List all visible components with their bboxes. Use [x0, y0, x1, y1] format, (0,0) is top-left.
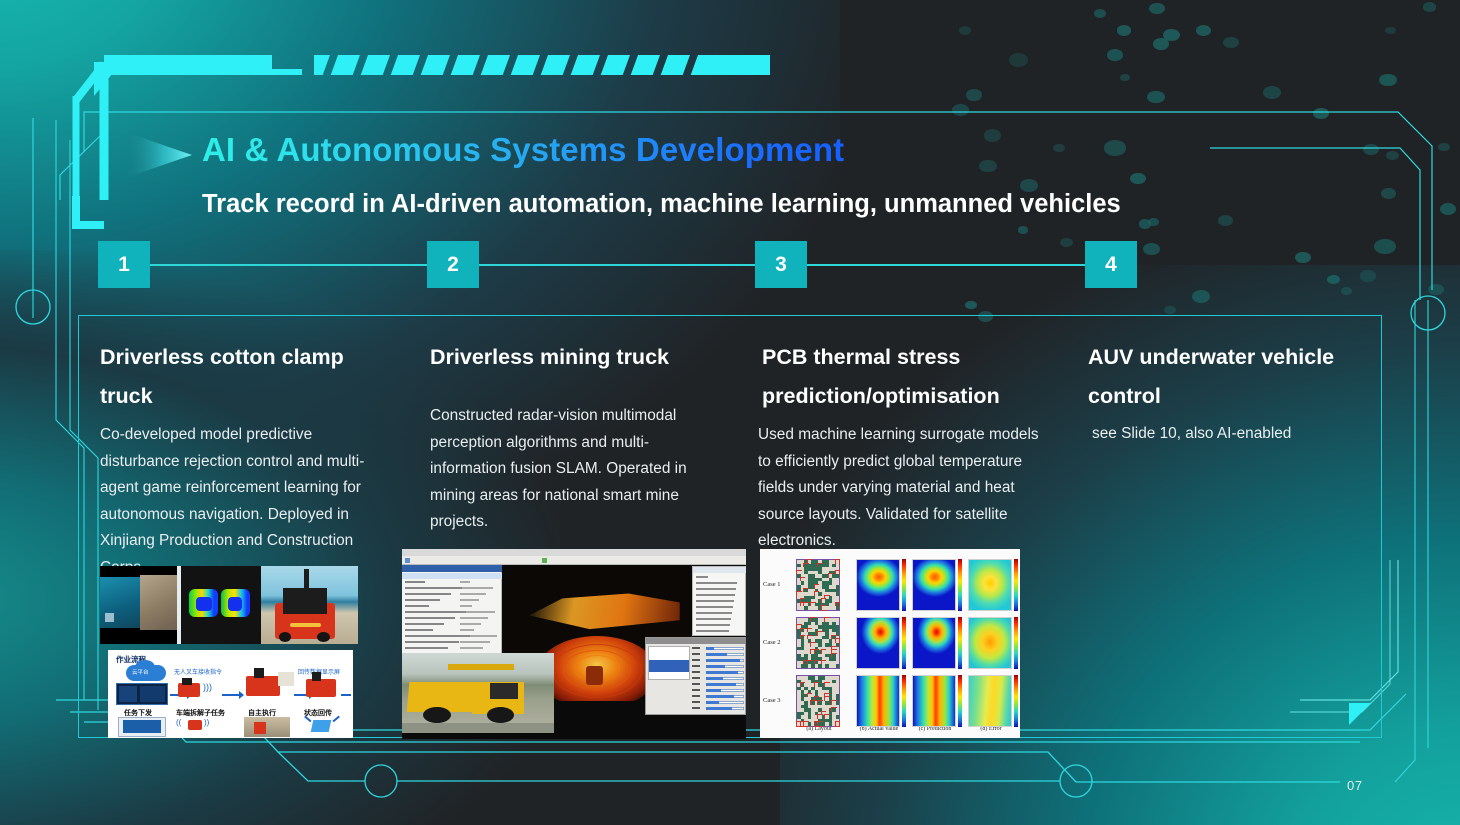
step-connector-line	[124, 264, 1137, 266]
column-4-body: see Slide 10, also AI-enabled	[1088, 421, 1358, 448]
thermal-row-label: Case 1	[763, 581, 781, 588]
workflow-step-2-label: 车端拆解子任务	[176, 708, 225, 718]
cloud-label: 云平台	[132, 668, 149, 676]
thermal-prediction-field	[912, 559, 956, 611]
thermal-colorbar	[958, 675, 962, 727]
thermal-error-field	[968, 617, 1012, 669]
depth-colormap-point-cloud	[181, 566, 261, 644]
thermal-prediction-field	[912, 617, 956, 669]
lidar-slam-software-screenshot	[402, 549, 746, 739]
red-clamp-truck-photo	[261, 566, 358, 644]
page-subtitle: Track record in AI-driven automation, ma…	[202, 190, 1121, 219]
thermal-colorbar	[1014, 617, 1018, 669]
thermal-error-field	[968, 559, 1012, 611]
cotton-truck-photo-strip	[100, 566, 358, 644]
step-marker-3[interactable]: 3	[755, 241, 807, 288]
workflow-label-a: 无人叉车接收指令	[174, 667, 222, 676]
thermal-actual-field	[856, 559, 900, 611]
page-corner-triangle-icon	[1349, 703, 1371, 725]
thermal-prediction-field	[912, 675, 956, 727]
workflow-step-4-label: 状态回传	[304, 708, 332, 718]
column-4-heading: AUV underwater vehicle control	[1088, 338, 1358, 416]
thermal-error-field	[968, 675, 1012, 727]
mining-truck-photo	[402, 653, 554, 733]
step-marker-2[interactable]: 2	[427, 241, 479, 288]
column-1-body: Co-developed model predictive disturbanc…	[100, 422, 380, 582]
thermal-layout-cell	[796, 559, 840, 611]
page-title: AI & Autonomous Systems Development	[202, 131, 844, 169]
column-2-heading: Driverless mining truck	[430, 338, 715, 377]
camera-view-cotton-bales	[100, 566, 177, 644]
column-2: Driverless mining truck Constructed rada…	[430, 338, 715, 536]
step-indicator-bar: 1 2 3 4	[98, 241, 1163, 288]
page-number: 07	[1347, 778, 1363, 793]
step-marker-1[interactable]: 1	[98, 241, 150, 288]
thermal-actual-field	[856, 675, 900, 727]
column-3: PCB thermal stress prediction/optimisati…	[758, 338, 1043, 555]
thermal-layout-cell	[796, 675, 840, 727]
column-2-body: Constructed radar-vision multimodal perc…	[430, 403, 715, 536]
column-3-body: Used machine learning surrogate models t…	[758, 422, 1043, 555]
thermal-colorbar	[902, 617, 906, 669]
column-4: AUV underwater vehicle control see Slide…	[1088, 338, 1358, 448]
thermal-row-label: Case 2	[763, 639, 781, 646]
play-triangle-icon	[122, 127, 210, 183]
thermal-colorbar	[958, 559, 962, 611]
step-marker-4[interactable]: 4	[1085, 241, 1137, 288]
thermal-colorbar	[958, 617, 962, 669]
slide-root: AI & Autonomous Systems Development Trac…	[0, 0, 1460, 825]
thermal-layout-cell	[796, 617, 840, 669]
workflow-diagram: 作业流程 云平台 任务下发 无人叉车接收指令 ))) 车端拆解子任务 (( ))…	[108, 650, 353, 738]
thermal-colorbar	[1014, 559, 1018, 611]
thermal-field-grid-figure: Case 1Case 2Case 3(a) Layout(b) Actual v…	[760, 549, 1020, 738]
thermal-row-label: Case 3	[763, 697, 781, 704]
properties-panel	[692, 566, 746, 636]
column-1: Driverless cotton clamp truck Co-develop…	[100, 338, 380, 582]
thermal-colorbar	[902, 675, 906, 727]
column-3-heading: PCB thermal stress prediction/optimisati…	[758, 338, 1043, 416]
column-1-heading: Driverless cotton clamp truck	[100, 338, 380, 416]
thermal-actual-field	[856, 617, 900, 669]
thermal-colorbar	[902, 559, 906, 611]
thermal-colorbar	[1014, 675, 1018, 727]
tuning-dialog	[645, 637, 746, 715]
